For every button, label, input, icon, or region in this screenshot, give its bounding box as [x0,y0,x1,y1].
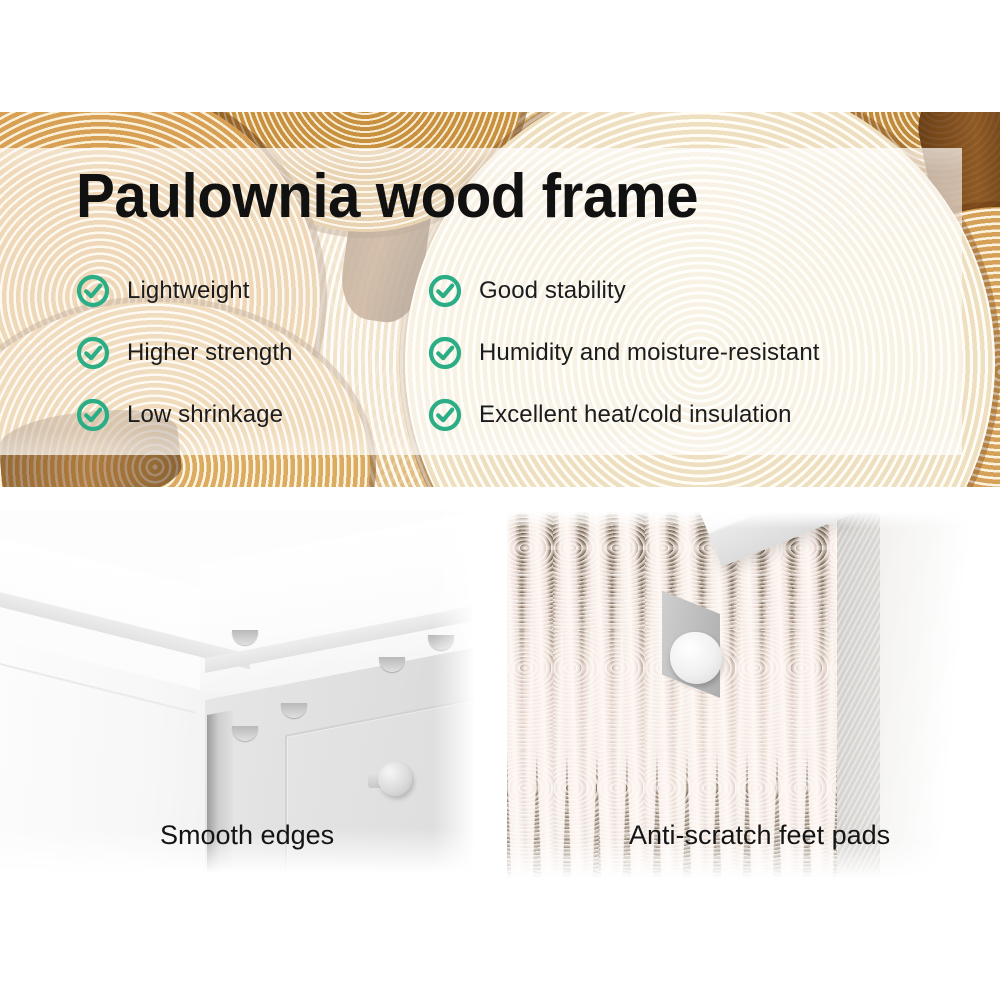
check-circle-icon [76,398,110,432]
paulownia-wood-banner: Paulownia wood frame Lightweight [0,112,1000,487]
panel-caption: Smooth edges [160,820,334,851]
check-circle-icon [76,274,110,308]
product-infographic: Paulownia wood frame Lightweight [0,0,1000,1000]
feature-label: Higher strength [127,339,293,367]
feature-item: Good stability [428,260,928,322]
check-circle-icon [428,274,462,308]
feature-label: Good stability [479,277,626,305]
banner-content: Paulownia wood frame Lightweight [0,112,1000,487]
feature-label: Lightweight [127,277,250,305]
feature-label: Humidity and moisture-resistant [479,339,820,367]
check-circle-icon [428,398,462,432]
detail-photo-panels: Smooth edges Anti-scratch feet pads [0,510,1000,888]
feature-label: Low shrinkage [127,401,283,429]
page-title: Paulownia wood frame [76,166,698,228]
detail-panel-smooth-edges: Smooth edges [0,510,493,888]
detail-panel-anti-scratch-feet-pads: Anti-scratch feet pads [507,510,1000,888]
feature-column-left: Lightweight Higher strength [76,260,416,446]
panel-top-fade [507,510,1000,528]
check-circle-icon [76,336,110,370]
anti-scratch-foot-pad [670,632,722,684]
feature-item: Excellent heat/cold insulation [428,384,928,446]
feature-column-right: Good stability Humidity and moisture-res… [428,260,928,446]
panel-caption: Anti-scratch feet pads [629,820,890,851]
drawer-knob [378,762,412,796]
feature-item: Higher strength [76,322,416,384]
feature-label: Excellent heat/cold insulation [479,401,792,429]
feature-item: Humidity and moisture-resistant [428,322,928,384]
feature-item: Low shrinkage [76,384,416,446]
feature-item: Lightweight [76,260,416,322]
background-white-area [880,510,1000,888]
check-circle-icon [428,336,462,370]
